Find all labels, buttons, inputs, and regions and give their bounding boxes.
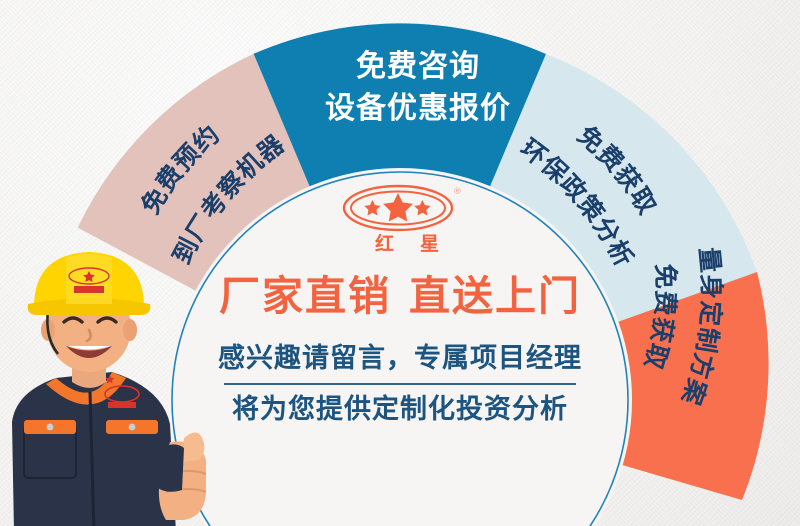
segment2-line2: 设备优惠报价: [325, 91, 511, 125]
logo-wordmark: 红星: [375, 232, 465, 255]
headline-part-1: 厂家直销: [219, 273, 391, 319]
promo-banner: 免费预约 到厂考察机器 免费咨询 设备优惠报价 免费获取 环保政策分析 免费获取…: [0, 0, 800, 526]
logo-stars: [364, 193, 430, 222]
hongxing-logo: ® 红星: [335, 182, 465, 256]
headline-part-2: 直送上门: [409, 273, 581, 319]
segment2-line1: 免费咨询: [356, 50, 480, 83]
page-title: 厂家直销直送上门: [219, 276, 581, 317]
registered-mark-icon: ®: [454, 186, 461, 196]
smiling-worker-thumbs-up: [0, 242, 224, 526]
subtitle-line-2: 将为您提供定制化投资分析: [232, 396, 568, 423]
subtitle-line-1: 感兴趣请留言，专属项目经理: [218, 345, 582, 372]
worker-helmet: [28, 252, 151, 315]
center-content: ® 红星 厂家直销直送上门 感兴趣请留言，专属项目经理 将为您提供定制化投资分析: [178, 150, 622, 526]
subtitle-divider: [224, 383, 576, 385]
